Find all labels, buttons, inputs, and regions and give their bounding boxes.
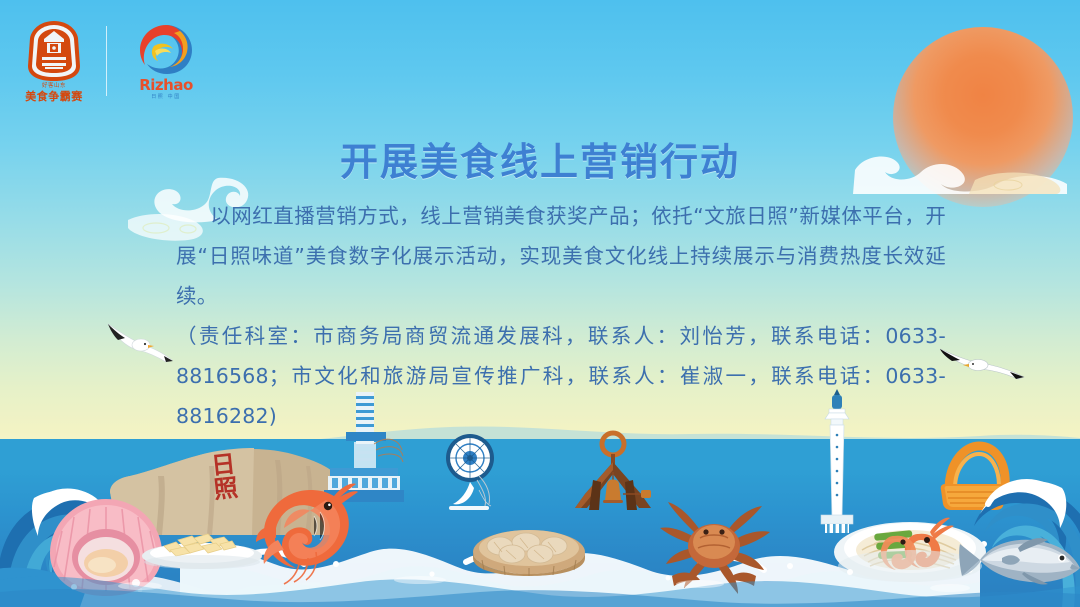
rizhao-subtitle: 日照 中国 (151, 95, 181, 100)
seal-stamp-icon (26, 20, 82, 82)
haoke-shandong-food-contest-logo[interactable]: 好客山东 美食争霸赛 (24, 20, 84, 102)
seagull-right-icon (936, 343, 1032, 383)
foreground-foam (0, 556, 1080, 607)
seal-logo-line2: 美食争霸赛 (25, 91, 83, 102)
rizhao-city-logo[interactable]: Rizhao 日照 中国 (129, 22, 203, 100)
seagull-left-icon (104, 318, 182, 366)
body-paragraph-1: 以网红直播营销方式，线上营销美食获奖产品；依托“文旅日照”新媒体平台，开展“日照… (176, 196, 946, 316)
body-paragraph-2: （责任科室：市商务局商贸流通发展科，联系人：刘怡芳，联系电话：0633-8816… (176, 316, 946, 436)
seal-logo-line1: 好客山东 (42, 84, 66, 90)
body-paragraph-1-text: 以网红直播营销方式，线上营销美食获奖产品；依托“文旅日照”新媒体平台，开展“日照… (176, 204, 946, 308)
body-paragraph-2-text: （责任科室：市商务局商贸流通发展科，联系人：刘怡芳，联系电话：0633-8816… (176, 324, 946, 428)
logo-divider (106, 26, 107, 96)
rizhao-wordmark: Rizhao (139, 78, 193, 93)
page-title: 开展美食线上营销行动 (0, 131, 1080, 186)
header-logos: 好客山东 美食争霸赛 Rizhao 日照 中国 (24, 20, 203, 102)
poster-canvas: 日照 (0, 0, 1080, 607)
body-text: 以网红直播营销方式，线上营销美食获奖产品；依托“文旅日照”新媒体平台，开展“日照… (176, 196, 946, 436)
rizhao-swirl-icon (136, 22, 196, 76)
